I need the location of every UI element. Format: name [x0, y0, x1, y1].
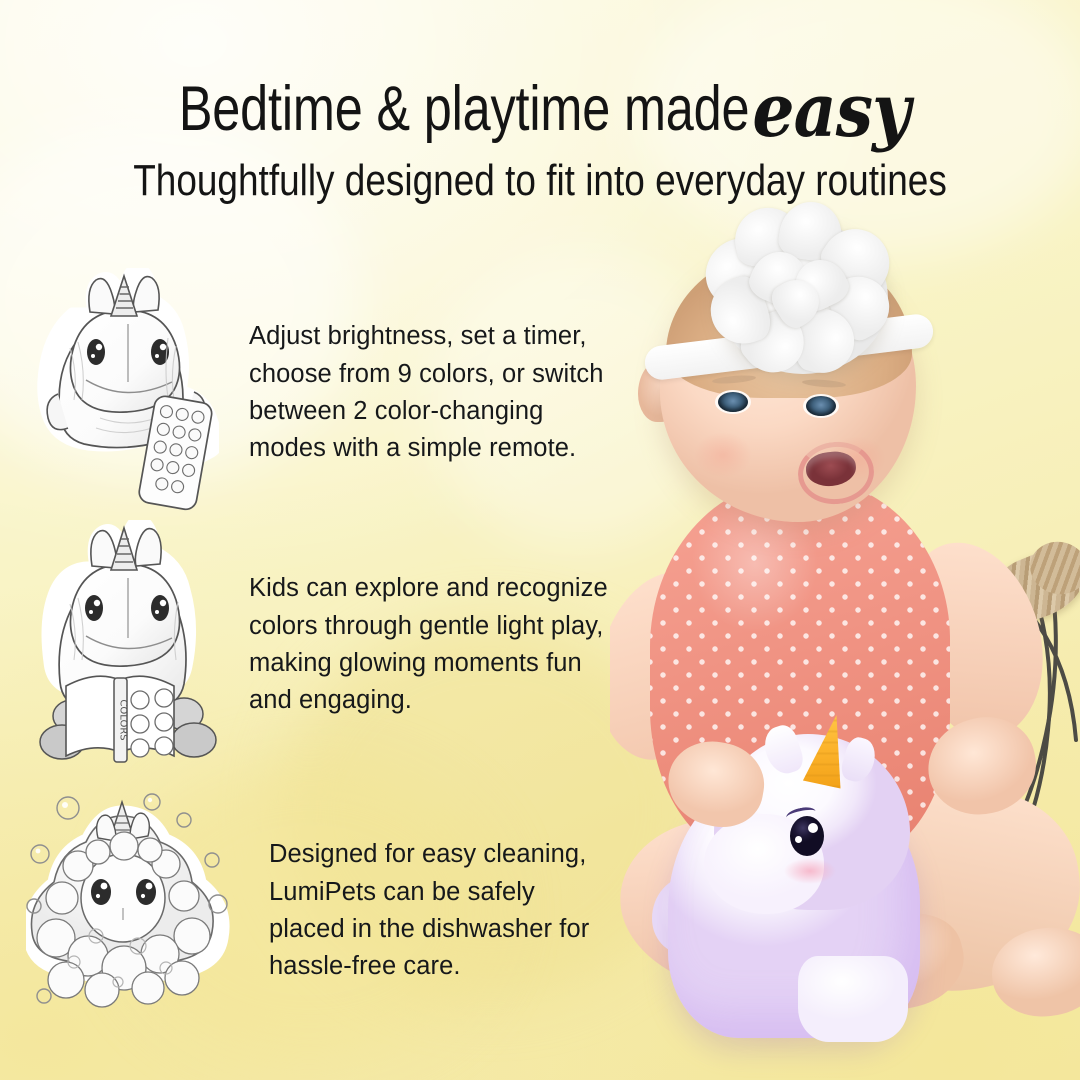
feature-text-remote-control: Adjust brightness, set a timer, choose f… [249, 318, 644, 468]
product-lifestyle-photo [610, 0, 1080, 1080]
infographic-canvas: Bedtime & playtime madeeasy Thoughtfully… [0, 0, 1080, 1080]
feature-row-color-learning: COLORS Kids can explore and recognize co… [34, 520, 644, 770]
feature-text-easy-cleaning: Designed for easy cleaning, LumiPets can… [269, 836, 664, 986]
feature-text-color-learning: Kids can explore and recognize colors th… [249, 570, 644, 720]
headband-flower [718, 222, 888, 374]
baby-eye-left [718, 392, 748, 412]
feature-row-easy-cleaning: Designed for easy cleaning, LumiPets can… [26, 786, 664, 1036]
unicorn-with-remote-sketch [34, 268, 219, 518]
unicorn-with-colors-book-sketch: COLORS [34, 520, 219, 770]
unicorn-in-bubbles-sketch [26, 786, 231, 1036]
toy-blush [784, 858, 836, 884]
sketch-svg-book: COLORS [34, 520, 219, 770]
feature-row-remote-control: Adjust brightness, set a timer, choose f… [34, 268, 644, 518]
sketch-svg-remote [34, 268, 219, 518]
book-spine-label: COLORS [118, 699, 129, 740]
baby-cheek-left [694, 432, 752, 478]
photo-floor-blend [610, 960, 1080, 1080]
baby-eye-right [806, 396, 836, 416]
sketch-svg-bubbles [26, 786, 231, 1036]
